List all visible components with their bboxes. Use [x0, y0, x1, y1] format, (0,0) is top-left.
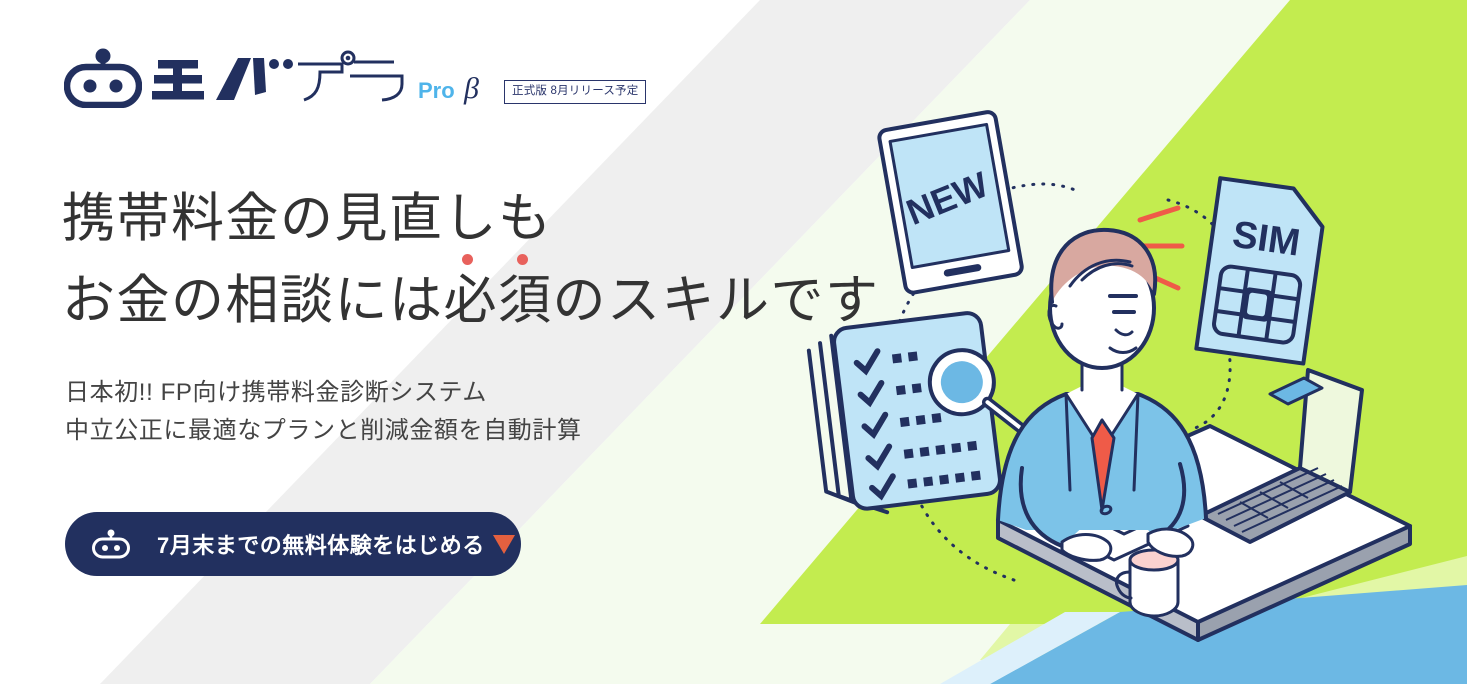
- logo-pro-beta: Pro β: [418, 48, 494, 108]
- headline-emphasis-text: 必須のスキル: [444, 271, 771, 330]
- free-trial-cta-button[interactable]: 7月末までの無料体験をはじめる: [65, 512, 521, 576]
- sim-card: SIM: [1196, 178, 1327, 363]
- headline-line-1: 携帯料金の見直しも: [62, 178, 880, 260]
- emphasis-dot-2: [517, 254, 528, 265]
- emphasis-dot-1: [462, 254, 473, 265]
- checklist-document: [807, 308, 1028, 519]
- hero-page: Pro β 正式版 8月リリース予定 携帯料金の見直しも お金の相談には必須のス…: [0, 0, 1467, 684]
- hero-subtitle: 日本初!! FP向け携帯料金診断システム 中立公正に最適なプランと削減金額を自動…: [65, 374, 582, 450]
- headline-line-2: お金の相談には必須のスキルです: [62, 260, 880, 342]
- logo-glyph-ra: [350, 62, 402, 100]
- cta-label: 7月末までの無料体験をはじめる: [157, 528, 485, 560]
- logo-beta-text: β: [463, 72, 479, 105]
- subtitle-line-2: 中立公正に最適なプランと削減金額を自動計算: [65, 412, 582, 450]
- businessman: [998, 230, 1206, 561]
- logo-glyph-pu: [298, 52, 354, 100]
- robot-icon: [64, 48, 142, 108]
- subtitle-line-1: 日本初!! FP向け携帯料金診断システム: [65, 374, 582, 412]
- triangle-down-icon[interactable]: [493, 535, 515, 554]
- logo-glyph-mo: [152, 60, 204, 100]
- logo-wordmark: [152, 48, 412, 108]
- release-badge: 正式版 8月リリース予定: [504, 80, 646, 105]
- headline-line2-pre: お金の相談には: [62, 271, 444, 330]
- tablet-device: NEW: [878, 111, 1023, 294]
- hero-illustration: .ol{fill:none;stroke:#22305f;stroke-widt…: [770, 90, 1467, 650]
- headline-emphasis: 必須のスキル: [444, 260, 771, 342]
- logo-pro-text: Pro: [418, 78, 455, 103]
- robot-icon: [91, 529, 131, 559]
- brand-logo[interactable]: Pro β 正式版 8月リリース予定: [64, 48, 646, 108]
- logo-glyph-ba: [216, 58, 293, 100]
- page-title: 携帯料金の見直しも お金の相談には必須のスキルです: [62, 178, 880, 342]
